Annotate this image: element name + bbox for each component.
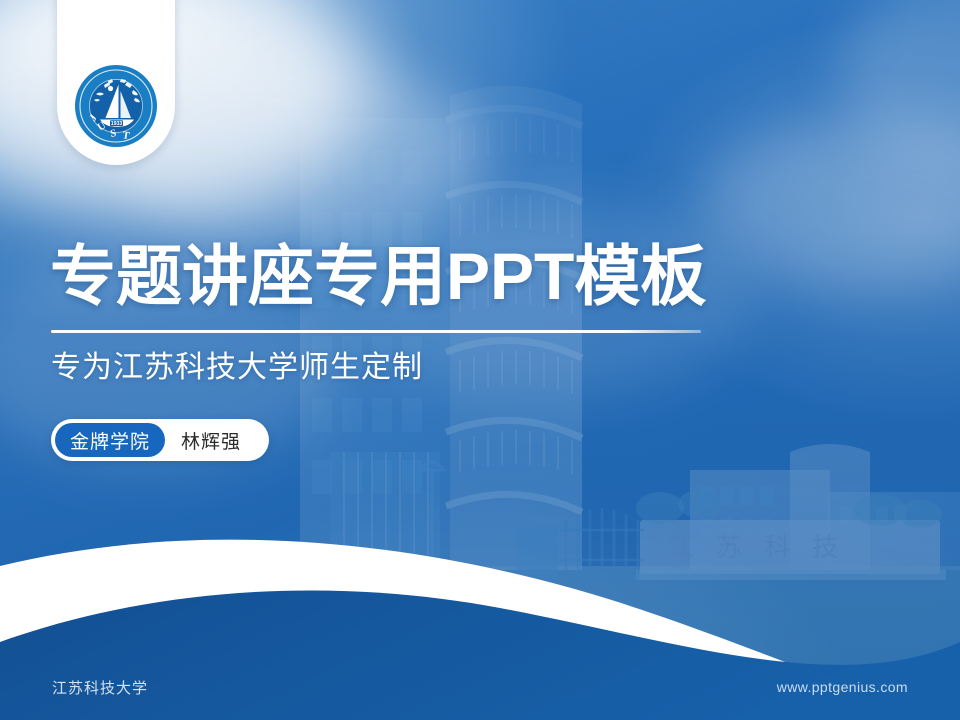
status-badge: 金牌学院 <box>55 423 165 457</box>
title-divider <box>51 330 701 333</box>
svg-text:1933: 1933 <box>111 121 123 127</box>
presenter-name: 林辉强 <box>165 423 265 457</box>
presenter-pill: 金牌学院 林辉强 <box>51 419 269 461</box>
footer-website-link[interactable]: www.pptgenius.com <box>777 679 908 695</box>
page-subtitle: 专为江苏科技大学师生定制 <box>51 349 423 387</box>
just-university-emblem-icon: 1933 J U S T <box>74 64 158 148</box>
footer-institution-label: 江苏科技大学 <box>52 677 148 698</box>
page-title: 专题讲座专用PPT模板 <box>50 243 706 309</box>
footer-bar: 江苏科技大学 www.pptgenius.com <box>0 660 960 720</box>
title-slide: 江 苏 科 技 <box>0 0 960 720</box>
